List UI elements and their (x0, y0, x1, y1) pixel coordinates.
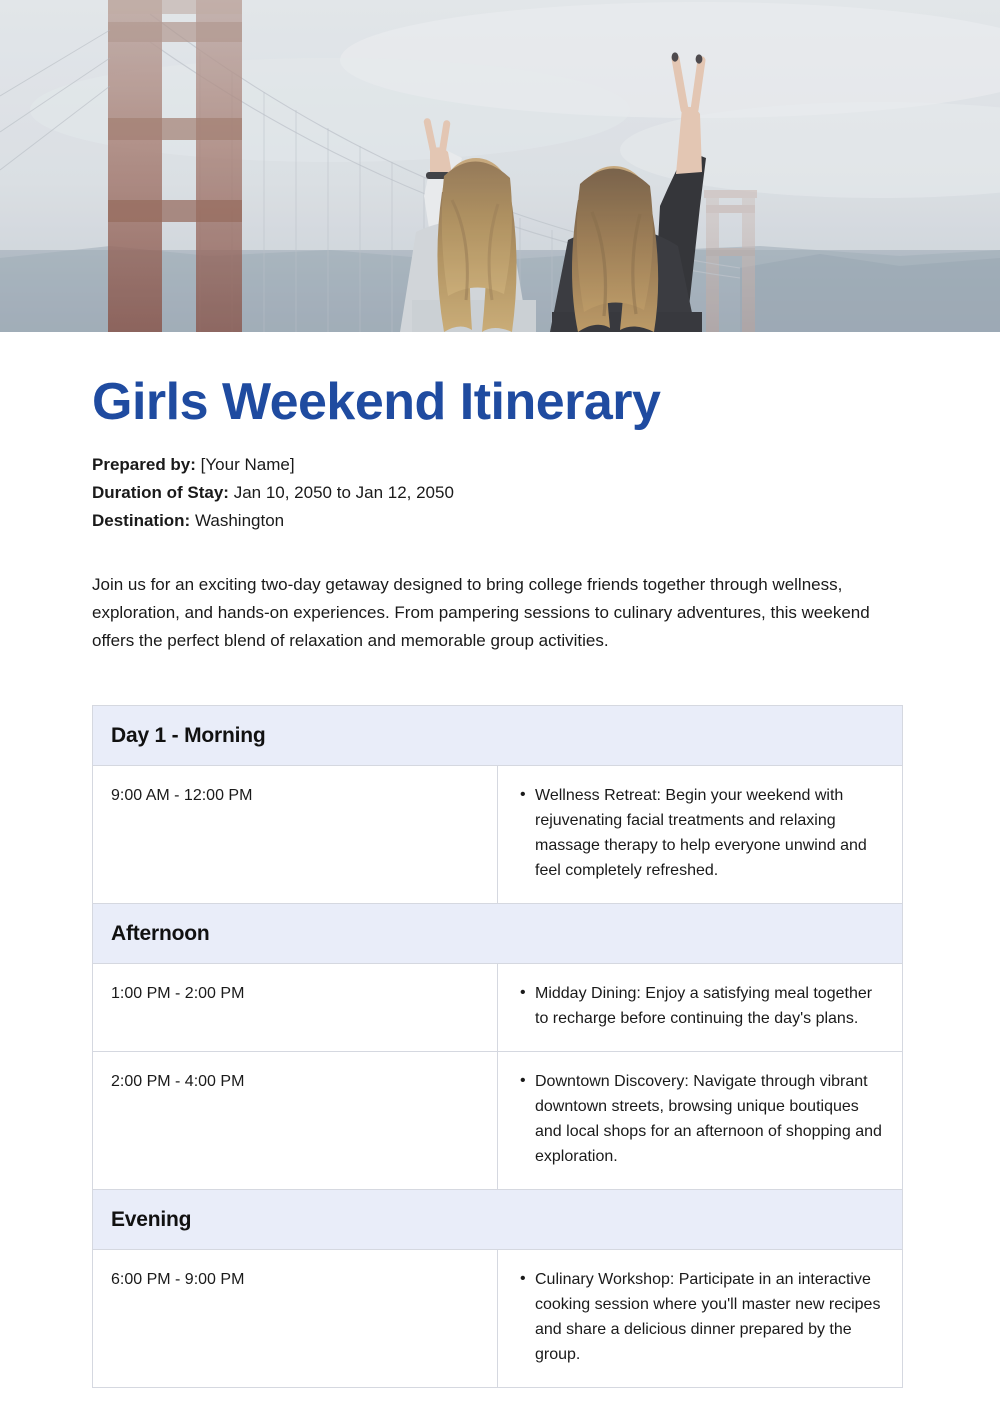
section-title: Day 1 - Morning (111, 724, 266, 747)
activity-item: Downtown Discovery: Navigate through vib… (498, 1069, 886, 1169)
activity-list: Downtown Discovery: Navigate through vib… (498, 1069, 886, 1169)
activity-item: Wellness Retreat: Begin your weekend wit… (498, 783, 886, 883)
meta-destination-value: Washington (195, 511, 284, 530)
hero-image (0, 0, 1000, 332)
section-header-row: Day 1 - Morning (93, 706, 903, 766)
section-header-cell: Evening (93, 1190, 903, 1250)
meta-prepared-by-label: Prepared by: (92, 455, 196, 474)
activity-item: Midday Dining: Enjoy a satisfying meal t… (498, 981, 886, 1031)
table-row: 1:00 PM - 2:00 PM Midday Dining: Enjoy a… (93, 964, 903, 1052)
meta-prepared-by-value: [Your Name] (201, 455, 295, 474)
document-meta: Prepared by: [Your Name] Duration of Sta… (92, 451, 908, 535)
meta-duration-value: Jan 10, 2050 to Jan 12, 2050 (234, 483, 454, 502)
meta-destination: Destination: Washington (92, 507, 908, 535)
section-header-row: Afternoon (93, 904, 903, 964)
document-body: Girls Weekend Itinerary Prepared by: [Yo… (0, 374, 1000, 1388)
section-header-row: Evening (93, 1190, 903, 1250)
activity-list: Midday Dining: Enjoy a satisfying meal t… (498, 981, 886, 1031)
activity-cell: Midday Dining: Enjoy a satisfying meal t… (498, 964, 903, 1052)
activity-list: Culinary Workshop: Participate in an int… (498, 1267, 886, 1367)
page-title: Girls Weekend Itinerary (92, 374, 908, 431)
activity-list: Wellness Retreat: Begin your weekend wit… (498, 783, 886, 883)
section-title: Afternoon (111, 922, 210, 945)
activity-cell: Culinary Workshop: Participate in an int… (498, 1250, 903, 1388)
table-row: 9:00 AM - 12:00 PM Wellness Retreat: Beg… (93, 766, 903, 904)
activity-item: Culinary Workshop: Participate in an int… (498, 1267, 886, 1367)
time-cell: 6:00 PM - 9:00 PM (93, 1250, 498, 1388)
meta-destination-label: Destination: (92, 511, 190, 530)
section-title: Evening (111, 1208, 191, 1231)
table-row: 2:00 PM - 4:00 PM Downtown Discovery: Na… (93, 1052, 903, 1190)
section-header-cell: Day 1 - Morning (93, 706, 903, 766)
activity-cell: Downtown Discovery: Navigate through vib… (498, 1052, 903, 1190)
itinerary-table: Day 1 - Morning 9:00 AM - 12:00 PM Welln… (92, 705, 903, 1388)
table-row: 6:00 PM - 9:00 PM Culinary Workshop: Par… (93, 1250, 903, 1388)
meta-duration-label: Duration of Stay: (92, 483, 229, 502)
intro-paragraph: Join us for an exciting two-day getaway … (92, 571, 908, 655)
meta-duration: Duration of Stay: Jan 10, 2050 to Jan 12… (92, 479, 908, 507)
time-cell: 9:00 AM - 12:00 PM (93, 766, 498, 904)
activity-cell: Wellness Retreat: Begin your weekend wit… (498, 766, 903, 904)
section-header-cell: Afternoon (93, 904, 903, 964)
time-cell: 1:00 PM - 2:00 PM (93, 964, 498, 1052)
hero-illustration (0, 0, 1000, 332)
itinerary-body: Day 1 - Morning 9:00 AM - 12:00 PM Welln… (93, 706, 903, 1388)
meta-prepared-by: Prepared by: [Your Name] (92, 451, 908, 479)
time-cell: 2:00 PM - 4:00 PM (93, 1052, 498, 1190)
